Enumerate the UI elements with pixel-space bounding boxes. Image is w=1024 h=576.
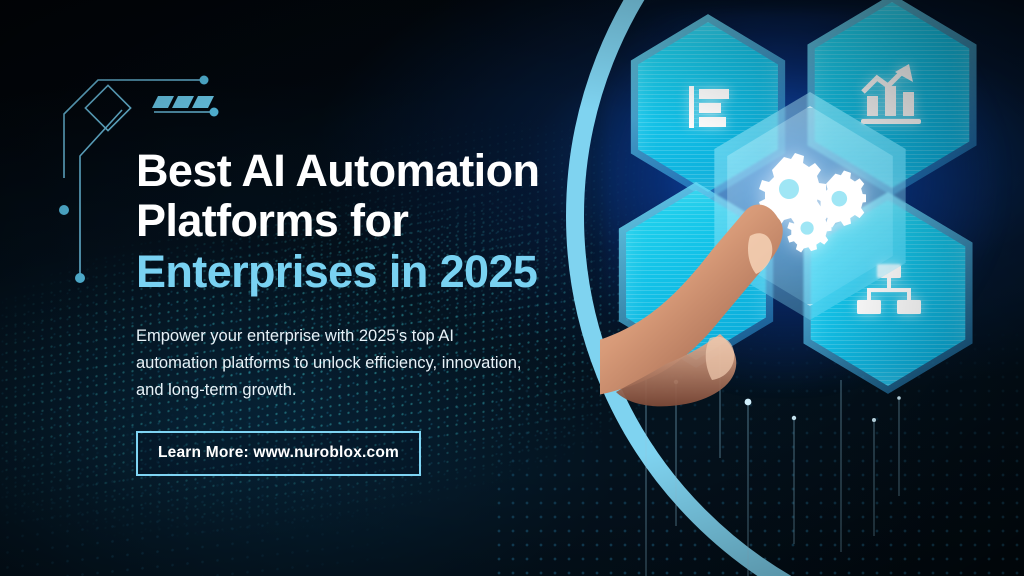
growth-bar-chart-icon bbox=[857, 62, 927, 128]
headline-line-3-accent: Enterprises in 2025 bbox=[136, 247, 606, 297]
gears-icon bbox=[754, 151, 866, 255]
marketing-banner: Best AI Automation Platforms for Enterpr… bbox=[0, 0, 1024, 576]
list-align-icon bbox=[677, 76, 739, 138]
learn-more-button[interactable]: Learn More: www.nuroblox.com bbox=[136, 431, 421, 476]
hero-artwork bbox=[584, 0, 1024, 420]
slanted-dashes bbox=[152, 96, 214, 108]
headline-line-2: Platforms for bbox=[136, 196, 606, 246]
diamond-outline bbox=[85, 85, 130, 130]
subtitle-text: Empower your enterprise with 2025’s top … bbox=[136, 323, 536, 403]
page-title: Best AI Automation Platforms for Enterpr… bbox=[136, 146, 606, 297]
content-block: Best AI Automation Platforms for Enterpr… bbox=[136, 146, 606, 476]
headline-line-1: Best AI Automation bbox=[136, 146, 606, 196]
